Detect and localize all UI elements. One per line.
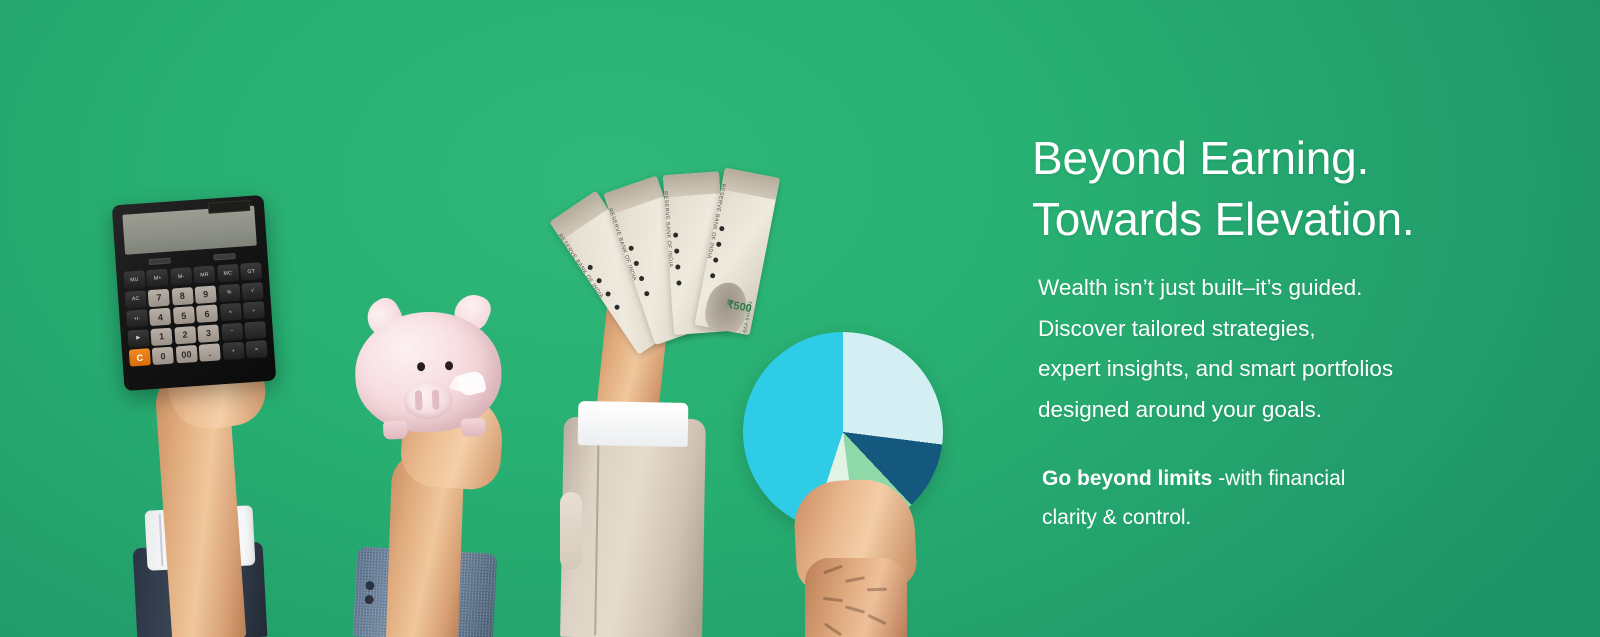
calc-key-MR: MR (193, 266, 215, 284)
hero-cta-text: Go beyond limits -with financial clarity… (1032, 460, 1572, 538)
calc-key-Mx: M- (170, 267, 192, 285)
power-switch (148, 258, 170, 266)
calc-key-00: 00 (176, 345, 198, 363)
calc-key-blank (244, 321, 266, 339)
calculator-keypad: MUM+M-MRMCGTAC789%√+/-456×÷▶123−C000.+= (123, 262, 267, 366)
cta-line-1: Go beyond limits -with financial (1042, 460, 1572, 499)
skin-texture (823, 565, 843, 575)
calc-key-x: ÷ (243, 301, 265, 319)
cta-emphasis: Go beyond limits (1042, 467, 1218, 490)
cta-tail: -with financial (1218, 467, 1345, 490)
skin-texture (845, 605, 865, 613)
calc-key-5: 5 (173, 306, 195, 324)
calc-key-MU: MU (123, 270, 145, 288)
hero-text-panel: Beyond Earning.Towards Elevation. Wealth… (1032, 128, 1572, 538)
note-band (549, 191, 608, 241)
calc-key-x: + (222, 342, 244, 360)
cta-line-2: clarity & control. (1042, 499, 1572, 538)
white-shirt-cuff (577, 401, 688, 447)
hero-banner: MUM+M-MRMCGTAC789%√+/-456×÷▶123−C000.+= (0, 0, 1600, 637)
skin-texture (845, 576, 865, 583)
calc-key-8: 8 (171, 287, 193, 305)
calc-key-x: . (199, 343, 221, 361)
pig-leg-left (383, 421, 408, 440)
skin-texture (867, 588, 887, 592)
headline-line-2: Towards Elevation. (1032, 189, 1572, 250)
hand-pie (775, 470, 965, 637)
note-security-dots (719, 226, 725, 232)
skin-texture (824, 623, 842, 637)
calc-key-x: = (246, 340, 268, 358)
headline-line-1: Beyond Earning. (1032, 128, 1572, 189)
subcopy-line-3: expert insights, and smart portfolios (1038, 349, 1572, 390)
calc-key-x: × (220, 303, 242, 321)
note-security-dots (673, 232, 678, 237)
sleeve-buttons (560, 492, 582, 570)
pig-leg-right (461, 418, 486, 437)
calc-key-AC: AC (125, 290, 147, 308)
indian-rupee-banknotes: RESERVE BANK OF INDIARESERVE BANK OF IND… (612, 133, 822, 323)
calc-key-x: % (218, 283, 240, 301)
pig-snout (404, 381, 453, 420)
calc-key-x: ▶ (127, 329, 149, 347)
calc-key-Mx: M+ (147, 269, 169, 287)
calc-key-GT: GT (240, 262, 262, 280)
skin-texture (823, 597, 843, 602)
note-band (721, 168, 780, 200)
calc-key-6: 6 (196, 304, 218, 322)
pig-eye-left (417, 362, 425, 371)
mode-switch (213, 253, 235, 261)
solar-panel (208, 200, 251, 214)
desktop-calculator: MUM+M-MRMCGTAC789%√+/-456×÷▶123−C000.+= (112, 195, 277, 391)
calculator-display (122, 206, 256, 255)
skin-texture (867, 614, 886, 625)
calc-key-3: 3 (197, 324, 219, 342)
ceramic-piggy-bank (344, 287, 509, 442)
note-security-dots (628, 245, 634, 251)
calc-key-9: 9 (195, 285, 217, 303)
subcopy-line-4: designed around your goals. (1038, 390, 1572, 431)
note-security-dots (587, 264, 594, 271)
calc-key-xxx: +/- (126, 309, 148, 327)
subcopy-line-2: Discover tailored strategies, (1038, 309, 1572, 350)
calc-key-2: 2 (174, 326, 196, 344)
calc-key-7: 7 (148, 288, 170, 306)
pig-eye-right (445, 361, 453, 370)
calc-key-MC: MC (217, 264, 239, 282)
subcopy-line-1: Wealth isn’t just built–it’s guided. (1038, 268, 1572, 309)
sleeve-seam (594, 425, 600, 635)
forearm (805, 558, 907, 637)
pig-nostril (432, 390, 440, 410)
note-band (663, 171, 720, 197)
calc-key-4: 4 (149, 308, 171, 326)
calc-key-C: C (129, 348, 151, 366)
hero-subcopy: Wealth isn’t just built–it’s guided.Disc… (1032, 268, 1572, 430)
calc-key-x: − (221, 322, 243, 340)
pig-nostril (415, 390, 423, 410)
calc-key-0: 0 (152, 347, 174, 365)
page-title: Beyond Earning.Towards Elevation. (1032, 128, 1572, 250)
calc-key-x: √ (242, 282, 264, 300)
calc-key-1: 1 (151, 327, 173, 345)
